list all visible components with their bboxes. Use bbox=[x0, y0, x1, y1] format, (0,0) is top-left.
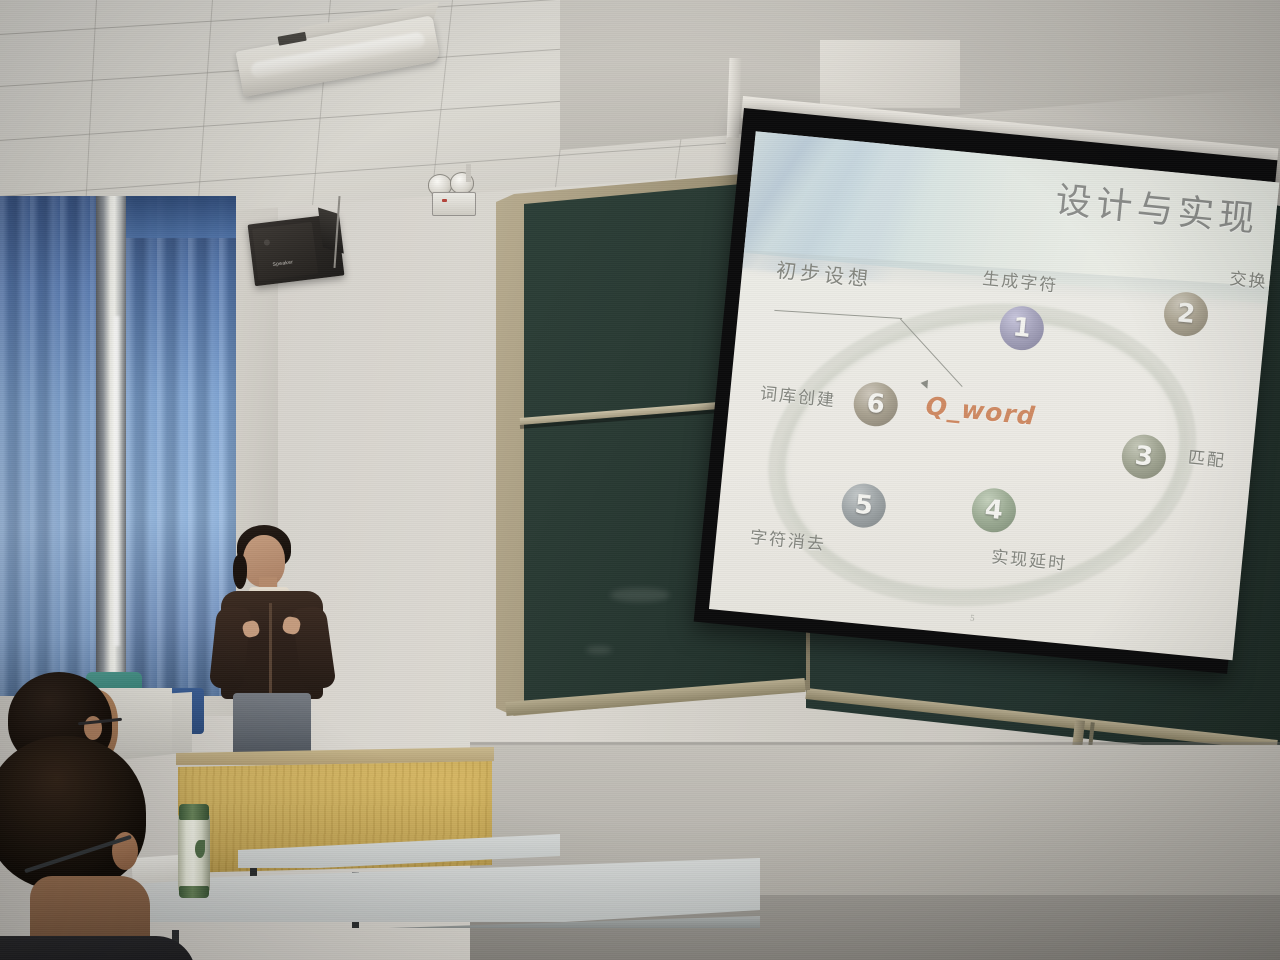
window-curtains bbox=[0, 196, 236, 696]
curtain-valance bbox=[126, 196, 236, 238]
presenter bbox=[207, 525, 337, 757]
screen-housing bbox=[820, 40, 960, 108]
window-gap bbox=[96, 196, 126, 696]
projector-screen: 设计与实现 初步设想 Q_word 1 生成字符 2 交换 3 匹配 4 实现延… bbox=[694, 108, 1278, 674]
desk-front-row bbox=[140, 858, 760, 960]
thermos-bottle bbox=[178, 802, 210, 898]
emergency-light bbox=[424, 172, 486, 220]
presentation-slide: 设计与实现 初步设想 Q_word 1 生成字符 2 交换 3 匹配 4 实现延… bbox=[709, 131, 1279, 660]
curtain-left-panel bbox=[0, 196, 96, 696]
thermos-cap bbox=[179, 804, 209, 820]
audience-member-front bbox=[0, 736, 166, 960]
classroom-photo: Speaker 设计与实现 bbox=[0, 0, 1280, 960]
slide-node-3-label: 匹配 bbox=[1187, 443, 1227, 472]
callout-underline bbox=[774, 310, 902, 319]
window-daylight bbox=[112, 316, 121, 646]
wall-speaker: Speaker bbox=[248, 214, 345, 287]
slide-node-2-label: 交换 bbox=[1229, 264, 1269, 293]
